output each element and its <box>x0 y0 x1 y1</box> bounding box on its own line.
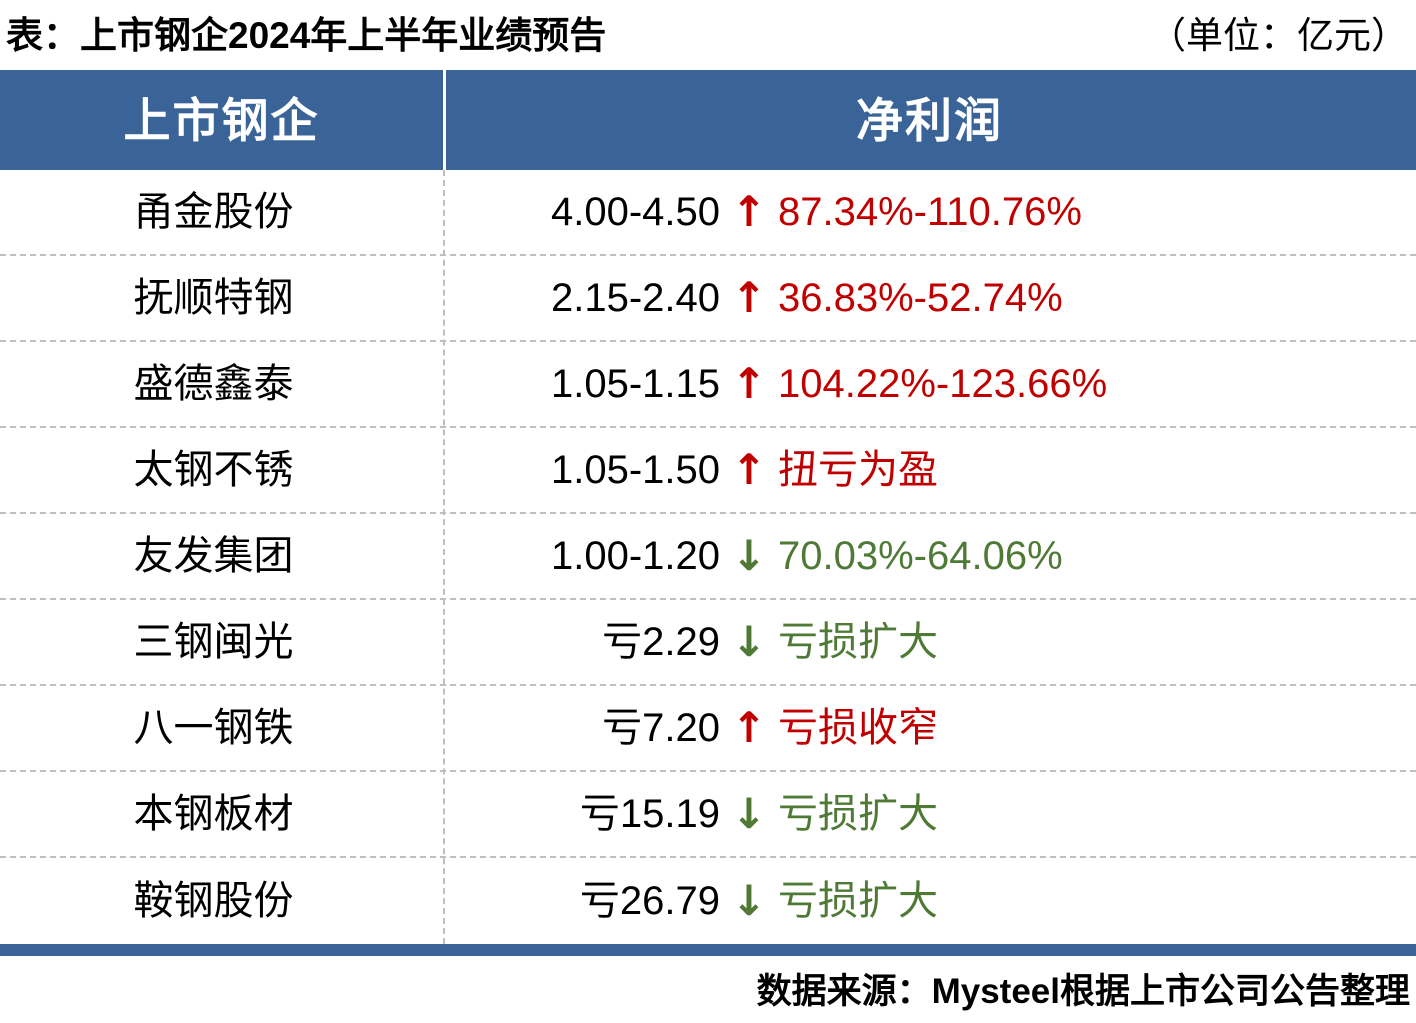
cell-profit: 1.05-1.15↑104.22%-123.66% <box>443 363 1416 405</box>
table-row: 抚顺特钢2.15-2.40↑36.83%-52.74% <box>0 256 1416 342</box>
table-row: 甬金股份4.00-4.50↑87.34%-110.76% <box>0 170 1416 256</box>
column-header-profit: 净利润 <box>443 70 1416 170</box>
profit-change: 36.83%-52.74% <box>778 278 1063 318</box>
profit-change: 亏损扩大 <box>778 794 938 834</box>
cell-profit: 2.15-2.40↑36.83%-52.74% <box>443 277 1416 319</box>
arrow-down-icon: ↓ <box>720 621 778 663</box>
profit-amount: 1.05-1.50 <box>443 450 720 490</box>
profit-change: 104.22%-123.66% <box>778 364 1107 404</box>
arrow-down-icon: ↓ <box>720 880 778 922</box>
cell-company: 太钢不锈 <box>0 450 443 490</box>
cell-profit: 亏7.20↑亏损收窄 <box>443 707 1416 749</box>
arrow-up-icon: ↑ <box>720 707 778 749</box>
table-row: 盛德鑫泰1.05-1.15↑104.22%-123.66% <box>0 342 1416 428</box>
table-page: 表：上市钢企2024年上半年业绩预告 （单位：亿元） 上市钢企 净利润 甬金股份… <box>0 0 1416 1023</box>
profit-amount: 1.05-1.15 <box>443 364 720 404</box>
source-label: 数据来源：Mysteel根据上市公司公告整理 <box>757 974 1416 1009</box>
table-row: 太钢不锈1.05-1.50↑扭亏为盈 <box>0 428 1416 514</box>
cell-profit: 1.00-1.20↓70.03%-64.06% <box>443 535 1416 577</box>
page-title: 表：上市钢企2024年上半年业绩预告 <box>0 17 606 54</box>
table-row: 本钢板材亏15.19↓亏损扩大 <box>0 772 1416 858</box>
cell-profit: 4.00-4.50↑87.34%-110.76% <box>443 191 1416 233</box>
cell-company: 友发集团 <box>0 536 443 576</box>
profit-amount: 亏26.79 <box>443 881 720 921</box>
arrow-down-icon: ↓ <box>720 793 778 835</box>
header-column-split <box>443 70 446 170</box>
profit-change: 70.03%-64.06% <box>778 536 1063 576</box>
arrow-up-icon: ↑ <box>720 449 778 491</box>
arrow-up-icon: ↑ <box>720 363 778 405</box>
arrow-up-icon: ↑ <box>720 277 778 319</box>
source-row: 数据来源：Mysteel根据上市公司公告整理 <box>0 960 1416 1023</box>
profit-amount: 亏2.29 <box>443 622 720 662</box>
table-row: 八一钢铁亏7.20↑亏损收窄 <box>0 686 1416 772</box>
table-body: 甬金股份4.00-4.50↑87.34%-110.76%抚顺特钢2.15-2.4… <box>0 170 1416 944</box>
cell-company: 甬金股份 <box>0 192 443 232</box>
cell-profit: 亏2.29↓亏损扩大 <box>443 621 1416 663</box>
title-row: 表：上市钢企2024年上半年业绩预告 （单位：亿元） <box>0 0 1416 70</box>
table-header-row: 上市钢企 净利润 <box>0 70 1416 170</box>
cell-company: 八一钢铁 <box>0 708 443 748</box>
profit-change: 亏损收窄 <box>778 708 938 748</box>
profit-amount: 亏7.20 <box>443 708 720 748</box>
cell-company: 盛德鑫泰 <box>0 364 443 404</box>
table-row: 三钢闽光亏2.29↓亏损扩大 <box>0 600 1416 686</box>
profit-amount: 亏15.19 <box>443 794 720 834</box>
table-row: 鞍钢股份亏26.79↓亏损扩大 <box>0 858 1416 944</box>
arrow-up-icon: ↑ <box>720 191 778 233</box>
profit-change: 亏损扩大 <box>778 622 938 662</box>
cell-profit: 亏15.19↓亏损扩大 <box>443 793 1416 835</box>
cell-company: 抚顺特钢 <box>0 278 443 318</box>
arrow-down-icon: ↓ <box>720 535 778 577</box>
cell-company: 三钢闽光 <box>0 622 443 662</box>
earnings-table: 上市钢企 净利润 甬金股份4.00-4.50↑87.34%-110.76%抚顺特… <box>0 70 1416 944</box>
cell-company: 鞍钢股份 <box>0 881 443 921</box>
cell-profit: 1.05-1.50↑扭亏为盈 <box>443 449 1416 491</box>
cell-company: 本钢板材 <box>0 794 443 834</box>
profit-change: 87.34%-110.76% <box>778 192 1082 232</box>
profit-amount: 4.00-4.50 <box>443 192 720 232</box>
column-header-company: 上市钢企 <box>0 70 443 170</box>
profit-amount: 2.15-2.40 <box>443 278 720 318</box>
profit-amount: 1.00-1.20 <box>443 536 720 576</box>
cell-profit: 亏26.79↓亏损扩大 <box>443 880 1416 922</box>
profit-change: 亏损扩大 <box>778 881 938 921</box>
profit-change: 扭亏为盈 <box>778 450 938 490</box>
table-bottom-bar <box>0 944 1416 956</box>
table-row: 友发集团1.00-1.20↓70.03%-64.06% <box>0 514 1416 600</box>
unit-label: （单位：亿元） <box>1149 17 1416 54</box>
